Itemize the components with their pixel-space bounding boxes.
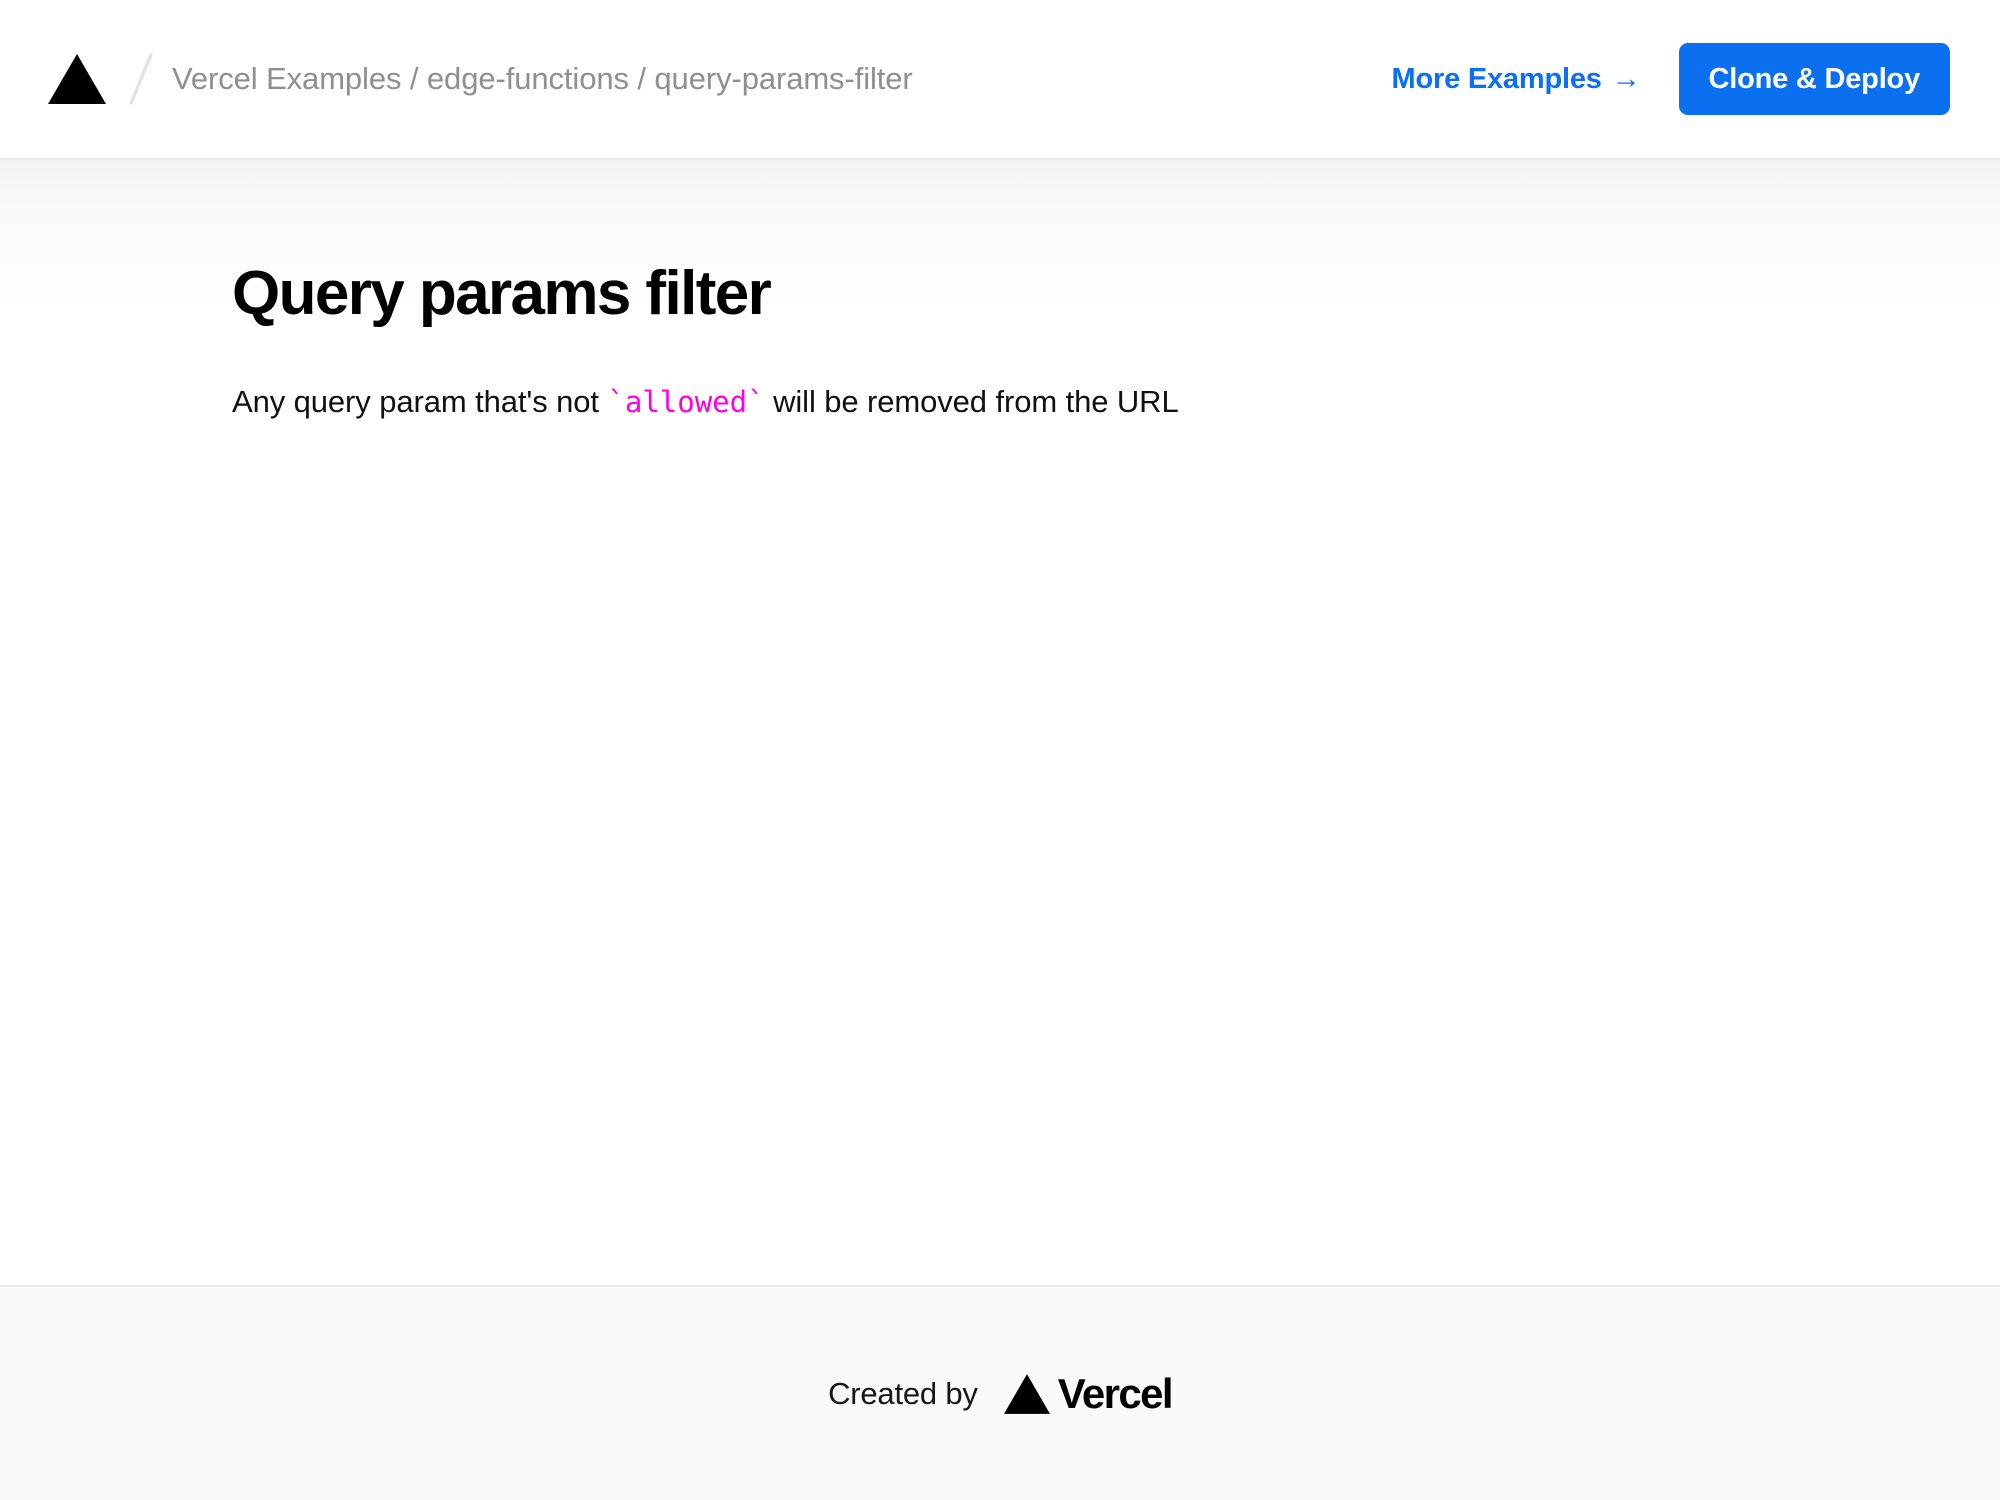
main-inner: Query params filter Any query param that… [0, 160, 2000, 425]
page-description: Any query param that's not `allowed` wil… [232, 380, 2000, 425]
vercel-wordmark: Vercel [1058, 1373, 1172, 1415]
description-text-after: will be removed from the URL [773, 384, 1179, 419]
clone-deploy-button[interactable]: Clone & Deploy [1679, 43, 1951, 115]
more-examples-link[interactable]: More Examples → [1392, 63, 1641, 96]
page-title: Query params filter [232, 260, 2000, 328]
site-header: Vercel Examples / edge-functions / query… [0, 0, 2000, 160]
header-left-group: Vercel Examples / edge-functions / query… [48, 48, 1392, 110]
description-text-before: Any query param that's not [232, 384, 599, 419]
footer-credit-link[interactable]: Created by Vercel [828, 1373, 1172, 1415]
page-root: Vercel Examples / edge-functions / query… [0, 0, 2000, 1500]
more-examples-label: More Examples [1392, 63, 1602, 96]
vercel-triangle-icon[interactable] [48, 54, 106, 104]
breadcrumb: Vercel Examples / edge-functions / query… [172, 60, 913, 99]
vercel-triangle-icon [1004, 1374, 1050, 1414]
header-right-group: More Examples → Clone & Deploy [1392, 43, 1950, 115]
main-content: Query params filter Any query param that… [0, 160, 2000, 1285]
inline-code-allowed: `allowed` [607, 385, 764, 419]
arrow-right-icon: → [1612, 65, 1641, 94]
created-by-label: Created by [828, 1376, 978, 1412]
site-footer: Created by Vercel [0, 1285, 2000, 1500]
slash-divider-icon [124, 48, 158, 110]
footer-vercel-logo: Vercel [1004, 1373, 1172, 1415]
